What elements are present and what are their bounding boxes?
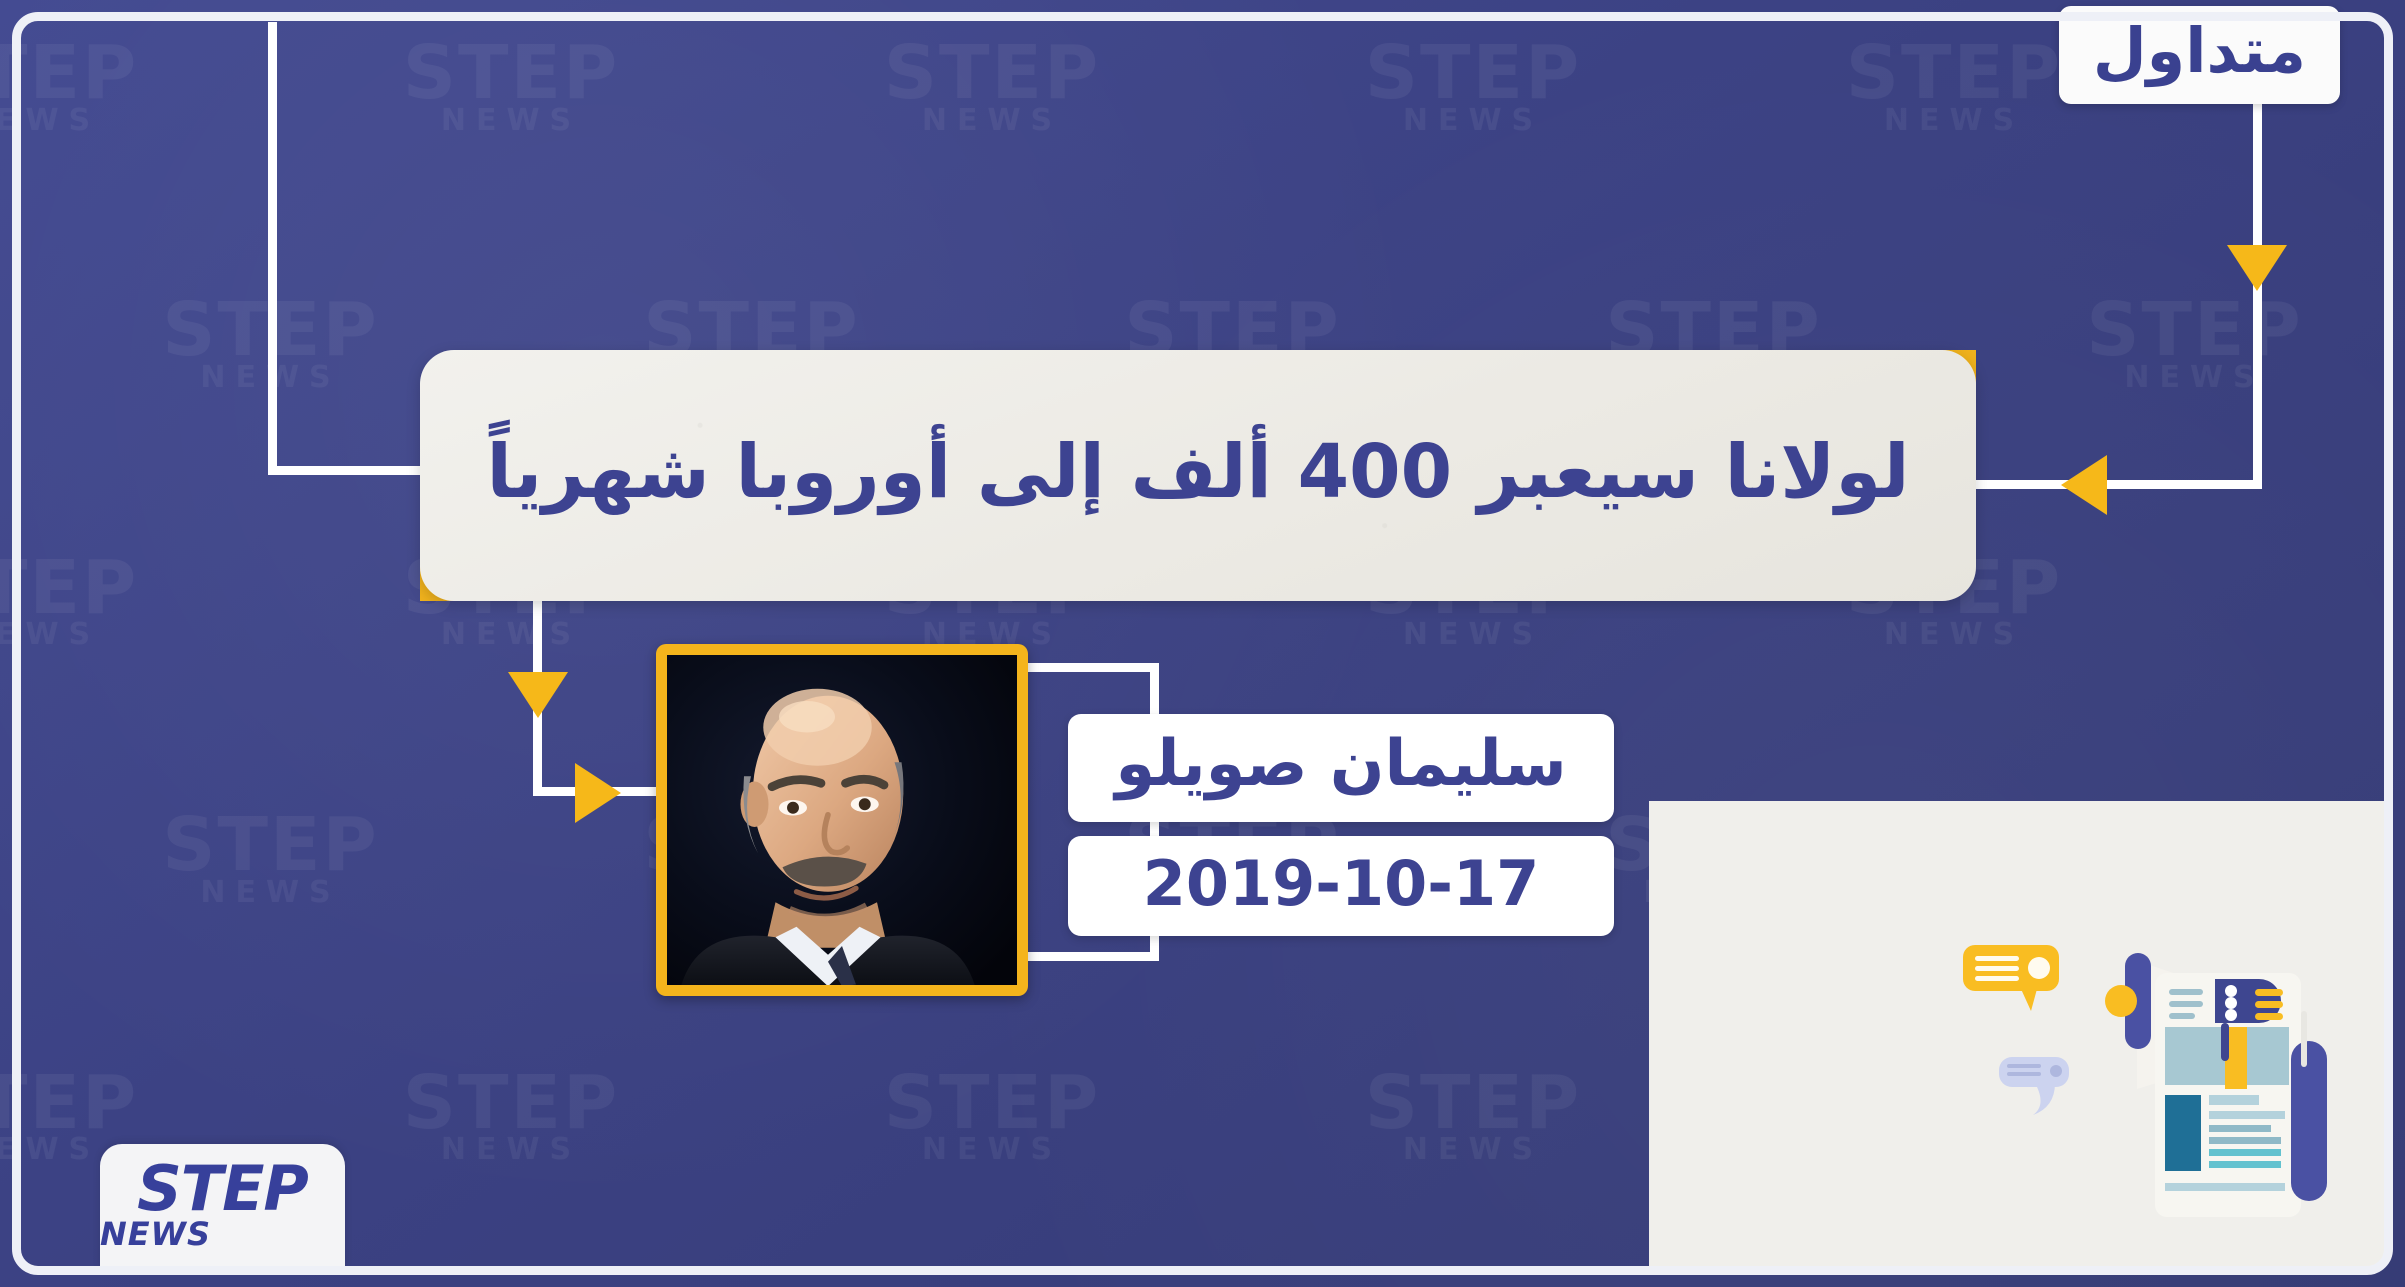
headline-text: لولانا سيعبر 400 ألف إلى أوروبا شهرياً <box>487 432 1910 519</box>
arrow-down-photo <box>508 672 568 718</box>
watermark-tile: STEPNEWS <box>1323 40 1623 134</box>
arrow-left-headline <box>2061 455 2107 515</box>
speech-bubble-icon-secondary <box>1999 1057 2069 1115</box>
watermark-tile: STEPNEWS <box>361 1070 661 1164</box>
connector-meta-bottom <box>1028 952 1158 961</box>
connector-meta-top <box>1028 663 1152 672</box>
watermark-tile: STEPNEWS <box>361 40 661 134</box>
trending-badge[interactable]: متداول <box>2059 6 2340 104</box>
source-date-pill: 2019-10-17 <box>1068 836 1614 936</box>
arrow-down-badge <box>2227 245 2287 291</box>
watermark-tile: STEPNEWS <box>842 40 1142 134</box>
logo-primary-text: STEP <box>137 1160 308 1217</box>
headline-container: لولانا سيعبر 400 ألف إلى أوروبا شهرياً <box>420 350 1976 601</box>
connector-left-vertical <box>268 22 277 474</box>
watermark-tile: STEPNEWS <box>2045 297 2345 391</box>
news-card: STEPNEWSSTEPNEWSSTEPNEWSSTEPNEWSSTEPNEWS… <box>0 0 2405 1287</box>
watermark-tile: STEPNEWS <box>121 812 421 906</box>
source-name-label: سليمان صويلو <box>1115 727 1566 801</box>
headline-panel: لولانا سيعبر 400 ألف إلى أوروبا شهرياً <box>420 350 1976 601</box>
arrow-right-photo <box>575 763 621 823</box>
source-name-pill: سليمان صويلو <box>1068 714 1614 822</box>
watermark-tile: STEPNEWS <box>1323 1070 1623 1164</box>
step-news-logo[interactable]: STEP NEWS <box>100 1144 345 1269</box>
connector-badge-corner <box>2253 463 2262 489</box>
source-date-label: 2019-10-17 <box>1143 847 1540 920</box>
news-illustration <box>1949 931 2379 1261</box>
logo-secondary-text: NEWS <box>100 1215 211 1253</box>
watermark-tile: STEPNEWS <box>842 1070 1142 1164</box>
source-portrait <box>656 644 1028 996</box>
trending-badge-label: متداول <box>2093 14 2306 87</box>
speech-bubble-icon <box>1963 945 2059 1011</box>
connector-badge-horizontal <box>1965 480 2253 489</box>
newspaper-icon <box>2155 973 2327 1217</box>
connector-badge-vertical-2 <box>2253 262 2262 472</box>
watermark-tile: STEPNEWS <box>0 555 180 649</box>
watermark-tile: STEPNEWS <box>0 40 180 134</box>
